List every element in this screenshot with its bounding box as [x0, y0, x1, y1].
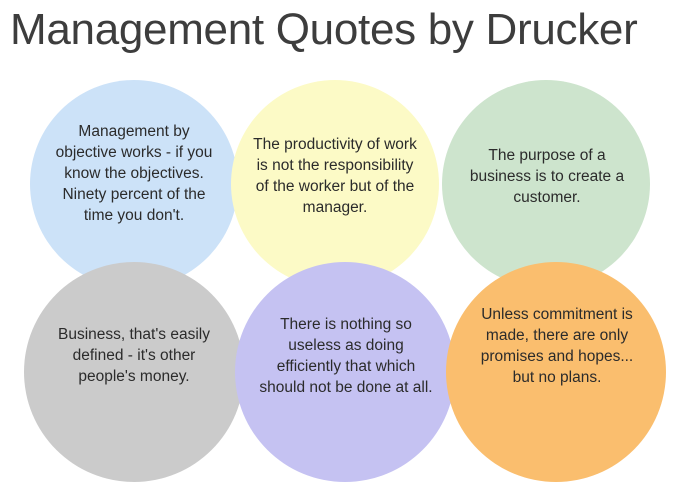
- quote-text-blue: Management by objective works - if you k…: [48, 121, 220, 226]
- quote-text-gray: Business, that's easily defined - it's o…: [48, 324, 220, 387]
- quote-text-yellow: The productivity of work is not the resp…: [252, 134, 418, 218]
- quote-text-orange: Unless commitment is made, there are onl…: [468, 304, 646, 388]
- diagram-canvas: Management Quotes by Drucker Management …: [0, 0, 700, 500]
- quote-text-purple: There is nothing so useless as doing eff…: [257, 314, 435, 398]
- venn-circles-layer: [0, 0, 700, 500]
- quote-text-green: The purpose of a business is to create a…: [464, 145, 630, 208]
